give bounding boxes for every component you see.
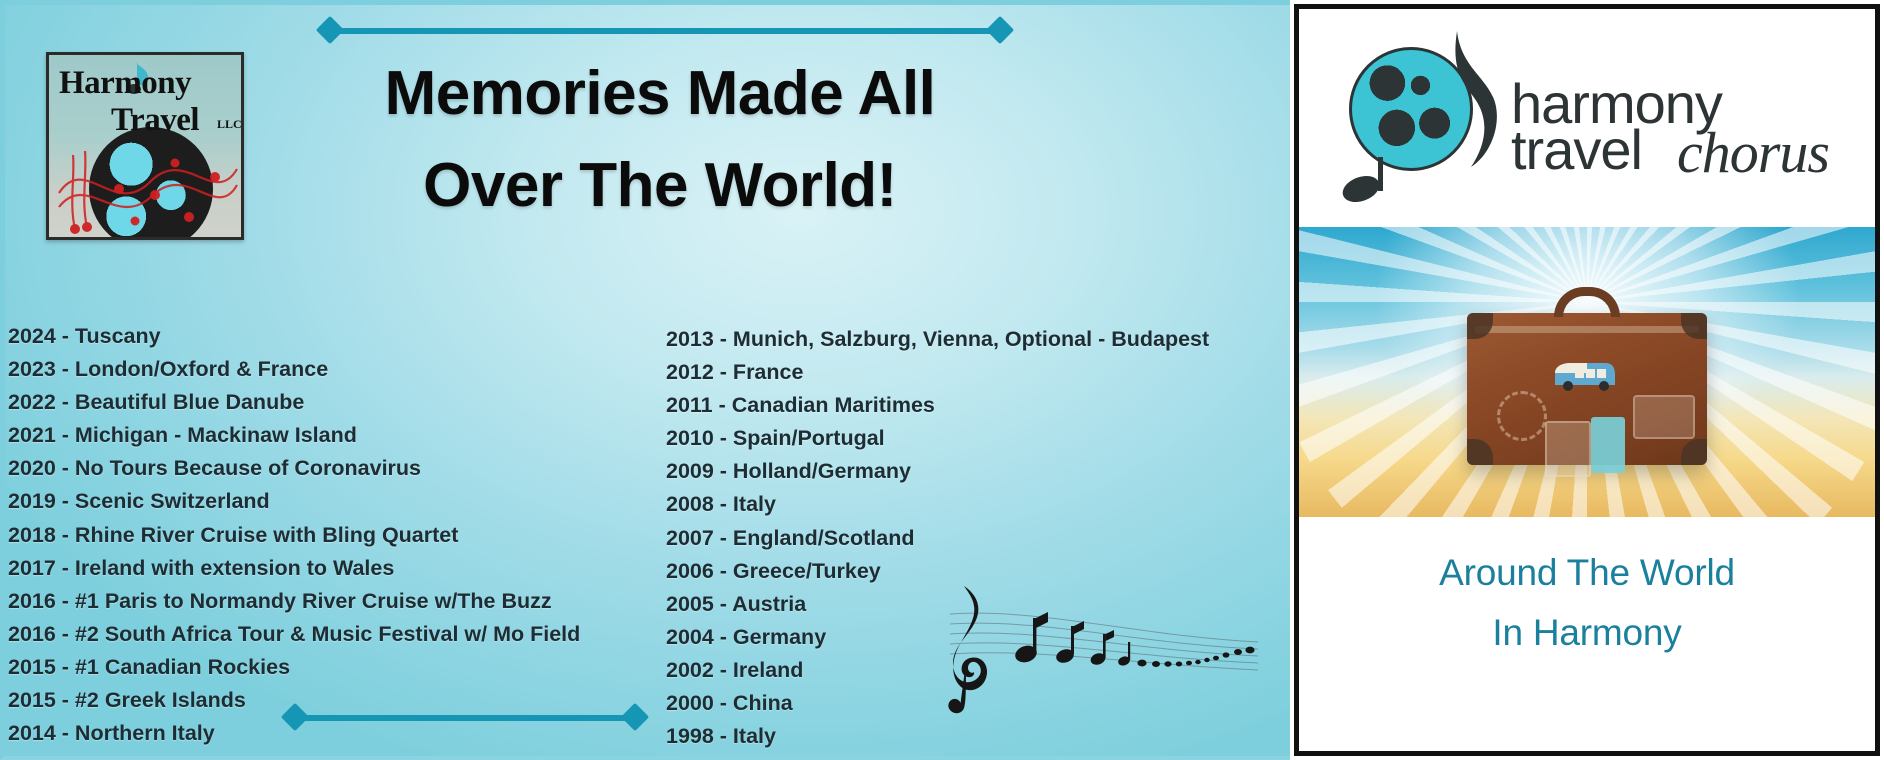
list-item: 2024 - Tuscany <box>8 320 580 353</box>
list-item: 2023 - London/Oxford & France <box>8 353 580 386</box>
harmony-travel-llc-logo: Harmony Travel LLC <box>46 52 244 240</box>
suitcase-photo <box>1299 227 1875 517</box>
list-item: 2009 - Holland/Germany <box>666 455 1209 488</box>
caption-line-1: Around The World <box>1439 543 1735 603</box>
suitcase-corner <box>1467 313 1493 339</box>
list-item: 2007 - England/Scotland <box>666 522 1209 555</box>
tour-list-left-column: 2024 - Tuscany 2023 - London/Oxford & Fr… <box>8 320 580 750</box>
music-note-icon <box>1431 27 1507 187</box>
list-item: 2012 - France <box>666 356 1209 389</box>
logo-word-travel: travel <box>1511 117 1642 182</box>
title-line-2: Over The World! <box>280 140 1040 232</box>
diamond-right-icon <box>621 703 649 731</box>
list-item: 2016 - #2 South Africa Tour & Music Fest… <box>8 618 580 651</box>
suitcase-corner <box>1467 439 1493 465</box>
list-item: 2016 - #1 Paris to Normandy River Cruise… <box>8 585 580 618</box>
note-stem-icon <box>1341 157 1401 207</box>
logo-word-llc: LLC <box>217 117 242 132</box>
postcard-sticker-icon <box>1545 421 1591 477</box>
list-item: 2010 - Spain/Portugal <box>666 422 1209 455</box>
logo-word-harmony: Harmony <box>59 65 191 102</box>
list-item: 2019 - Scenic Switzerland <box>8 485 580 518</box>
stamp-sticker-icon <box>1497 391 1547 441</box>
list-item: 2018 - Rhine River Cruise with Bling Qua… <box>8 519 580 552</box>
list-item: 2021 - Michigan - Mackinaw Island <box>8 419 580 452</box>
harmony-travel-chorus-logo: harmony travel chorus <box>1299 9 1875 227</box>
caption-line-2: In Harmony <box>1492 603 1681 663</box>
luggage-tag-icon <box>1591 417 1625 473</box>
suitcase-corner <box>1681 313 1707 339</box>
title-line-1: Memories Made All <box>280 48 1040 140</box>
panel-caption: Around The World In Harmony <box>1299 517 1875 753</box>
diamond-right-icon <box>986 16 1014 44</box>
side-panel: harmony travel chorus <box>1294 4 1880 756</box>
list-item: 1998 - Italy <box>666 720 1209 753</box>
poster-canvas: Harmony Travel LLC Memories Made All Ove… <box>0 0 1884 760</box>
bar-line <box>299 715 631 721</box>
decorative-bar-bottom <box>285 712 645 722</box>
page-title: Memories Made All Over The World! <box>280 48 1040 232</box>
suitcase-icon <box>1467 313 1707 465</box>
bar-line <box>334 28 996 34</box>
logo-word-travel: Travel <box>111 102 199 139</box>
main-poster-panel: Harmony Travel LLC Memories Made All Ove… <box>0 0 1290 760</box>
suitcase-corner <box>1681 439 1707 465</box>
decorative-bar-top <box>320 25 1010 35</box>
music-staff-red-icon <box>55 133 241 240</box>
list-item: 2017 - Ireland with extension to Wales <box>8 552 580 585</box>
logo-word-chorus: chorus <box>1677 119 1829 186</box>
list-item: 2011 - Canadian Maritimes <box>666 389 1209 422</box>
list-item: 2015 - #1 Canadian Rockies <box>8 651 580 684</box>
list-item: 2013 - Munich, Salzburg, Vienna, Optiona… <box>666 323 1209 356</box>
bus-sticker-icon <box>1553 361 1617 393</box>
list-item: 2008 - Italy <box>666 488 1209 521</box>
music-staff-icon <box>930 580 1260 720</box>
shark-sticker-icon <box>1633 395 1695 439</box>
list-item: 2020 - No Tours Because of Coronavirus <box>8 452 580 485</box>
list-item: 2022 - Beautiful Blue Danube <box>8 386 580 419</box>
